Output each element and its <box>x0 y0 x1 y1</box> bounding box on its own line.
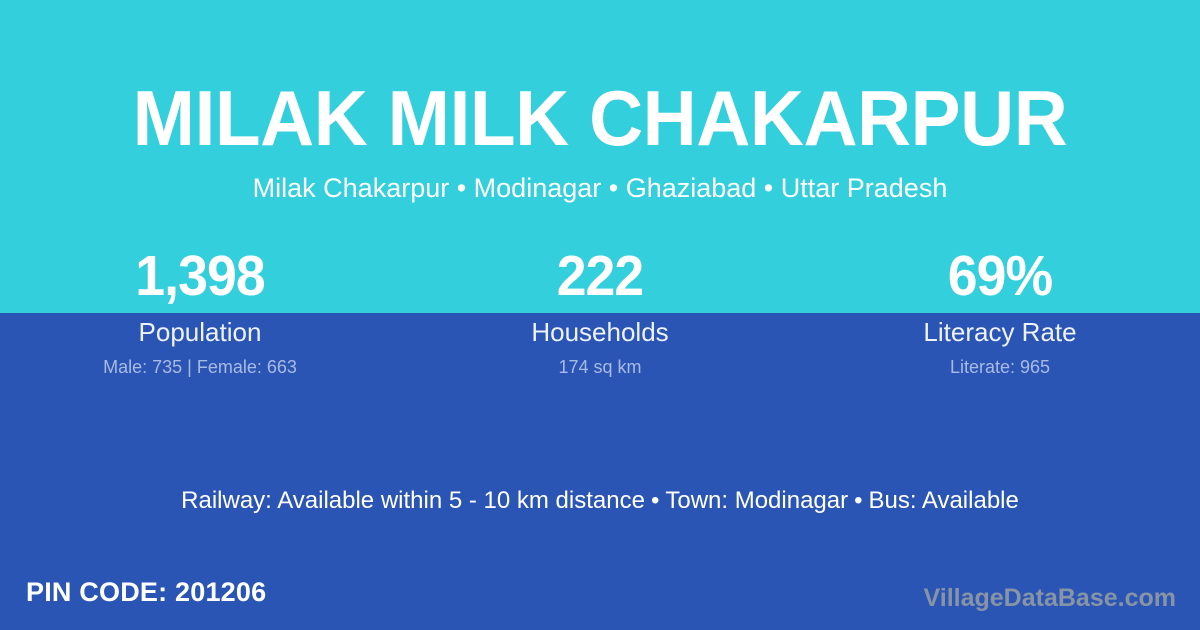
site-brand: VillageDataBase.com <box>924 584 1176 612</box>
stat-value: 222 <box>412 248 788 305</box>
stat-label: Population <box>0 318 400 346</box>
amenities-line: Railway: Available within 5 - 10 km dist… <box>0 487 1200 515</box>
village-info-card: MILAK MILK CHAKARPUR Milak Chakarpur • M… <box>0 0 1200 630</box>
stat-label: Literacy Rate <box>800 318 1200 346</box>
stat-value: 69% <box>812 248 1188 305</box>
page-title: MILAK MILK CHAKARPUR <box>24 0 1176 158</box>
amenity-bus: Bus: Available <box>869 487 1019 514</box>
amenity-separator: • <box>645 487 665 514</box>
stat-sublabel: 174 sq km <box>400 357 800 377</box>
stat-households: 222 Households 174 sq km <box>400 248 800 377</box>
stat-sublabel: Male: 735 | Female: 663 <box>0 357 400 377</box>
stats-row: 1,398 Population Male: 735 | Female: 663… <box>0 248 1200 377</box>
breadcrumb: Milak Chakarpur • Modinagar • Ghaziabad … <box>0 158 1200 204</box>
pin-code-label: PIN CODE: 201206 <box>26 577 266 607</box>
stat-label: Households <box>400 318 800 346</box>
amenity-separator: • <box>848 487 868 514</box>
amenity-town: Town: Modinagar <box>665 487 848 514</box>
amenity-railway: Railway: Available within 5 - 10 km dist… <box>181 487 645 514</box>
stat-literacy-rate: 69% Literacy Rate Literate: 965 <box>800 248 1200 377</box>
stat-value: 1,398 <box>12 248 388 305</box>
card-header: MILAK MILK CHAKARPUR Milak Chakarpur • M… <box>0 0 1200 204</box>
stat-sublabel: Literate: 965 <box>800 357 1200 377</box>
stat-population: 1,398 Population Male: 735 | Female: 663 <box>0 248 400 377</box>
